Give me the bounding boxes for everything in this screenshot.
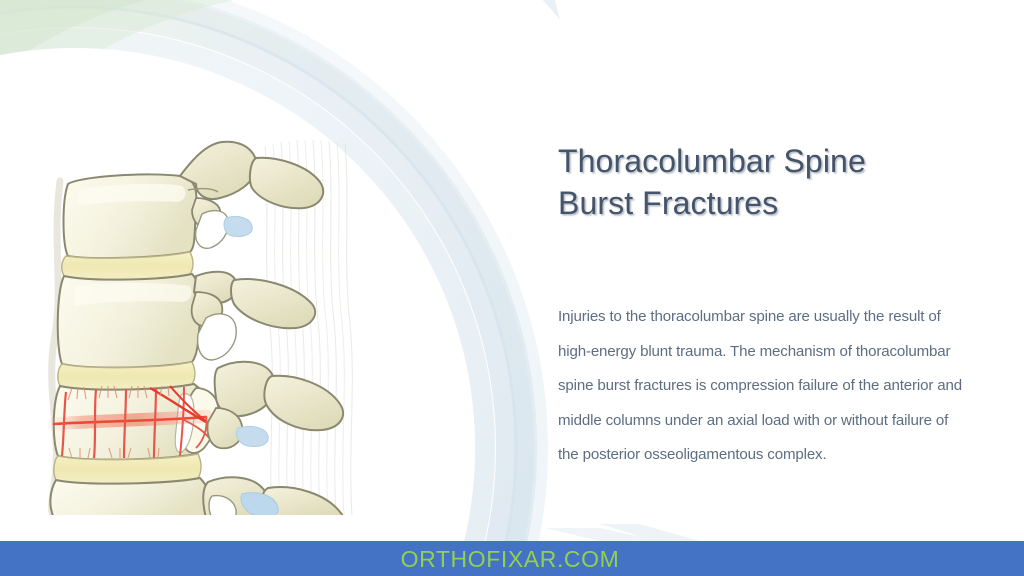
lumbar-spine-illustration xyxy=(20,136,370,518)
arc-green-tint-2 xyxy=(0,0,190,120)
vertebra-body-upper xyxy=(64,174,197,258)
facet-cartilage-upper xyxy=(224,216,252,236)
neural-foramen-upper xyxy=(196,211,229,249)
posterior-elements-fractured xyxy=(208,362,344,449)
footer-streak xyxy=(545,528,660,541)
vertebra-body-lower xyxy=(50,478,212,518)
footer-streak-2 xyxy=(600,524,700,541)
body-paragraph: Injuries to the thoracolumbar spine are … xyxy=(558,224,970,473)
vertebra-body-second xyxy=(58,274,201,368)
slide-canvas: Thoracolumbar Spine Burst Fractures Inju… xyxy=(0,0,1024,576)
text-column: Thoracolumbar Spine Burst Fractures Inju… xyxy=(558,140,978,473)
image-bottom-crop xyxy=(20,515,370,518)
site-watermark: ORTHOFIXAR.COM xyxy=(401,546,620,573)
footer-bar: ORTHOFIXAR.COM xyxy=(0,541,1024,576)
page-title: Thoracolumbar Spine Burst Fractures xyxy=(558,140,978,224)
